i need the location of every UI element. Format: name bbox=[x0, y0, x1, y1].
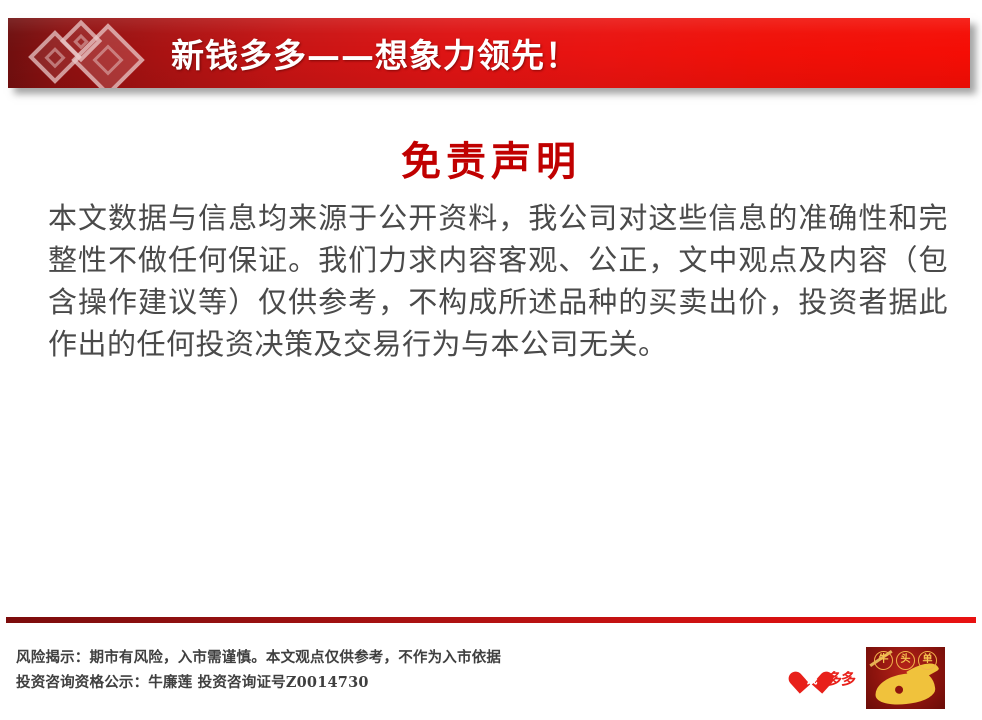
ntd-char-2: 头 bbox=[896, 651, 915, 670]
footer-logo-group: 钱 多多 牛 头 单 bbox=[787, 647, 945, 709]
header-banner: 新钱多多——想象力领先！ bbox=[8, 18, 970, 88]
page-title: 免责声明 bbox=[0, 129, 982, 187]
qianduoduo-logo: 钱 多多 bbox=[787, 647, 866, 709]
heart-icon: 钱 bbox=[798, 666, 825, 691]
niutoudan-logo: 牛 头 单 bbox=[866, 647, 945, 709]
ntd-char-1: 牛 bbox=[874, 651, 893, 670]
advisor-qualification-line: 投资咨询资格公示：牛廉莲 投资咨询证号Z0014730 bbox=[16, 670, 501, 695]
niutoudan-wordmark: 牛 头 单 bbox=[866, 651, 945, 670]
bull-eye bbox=[895, 685, 904, 694]
bull-head-icon bbox=[873, 670, 936, 707]
risk-disclosure-line: 风险揭示：期市有风险，入市需谨慎。本文观点仅供参考，不作为入市依据 bbox=[16, 645, 501, 670]
ntd-char-3: 单 bbox=[918, 651, 937, 670]
diamond-knot-icon bbox=[30, 24, 156, 84]
disclaimer-paragraph: 本文数据与信息均来源于公开资料，我公司对这些信息的准确性和完整性不做任何保证。我… bbox=[48, 197, 948, 365]
heart-character: 钱 bbox=[798, 670, 825, 687]
footer-divider bbox=[6, 617, 976, 623]
header-title: 新钱多多——想象力领先！ bbox=[171, 29, 579, 77]
footer-notes: 风险揭示：期市有风险，入市需谨慎。本文观点仅供参考，不作为入市依据 投资咨询资格… bbox=[16, 645, 501, 695]
